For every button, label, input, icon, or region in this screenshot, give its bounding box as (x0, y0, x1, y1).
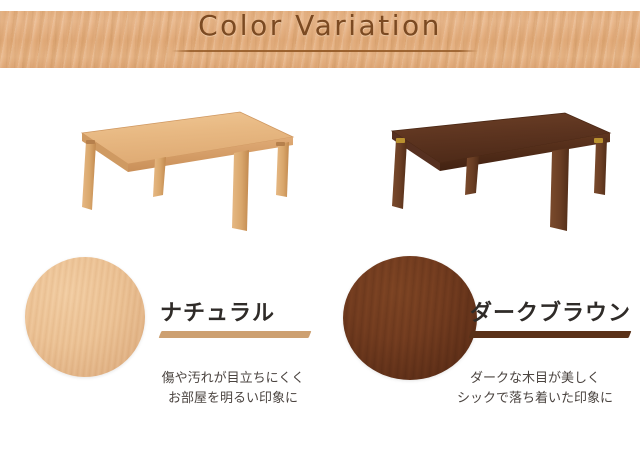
variant-name-natural: ナチュラル (160, 303, 310, 325)
title-underline-rule (172, 50, 478, 52)
variant-name-underline-natural (159, 331, 312, 338)
description-line-1: 傷や汚れが目立ちにくく (128, 369, 338, 389)
table-leg-front-left (392, 139, 407, 209)
dark-brown-wood-low-table-photo (330, 85, 630, 235)
table-leg-back-left (153, 157, 166, 197)
swatch-dark-brown[interactable] (343, 256, 477, 380)
table-leg-front-right (550, 148, 569, 231)
table-leg-front-right (232, 150, 249, 231)
natural-wood-low-table-photo (10, 85, 310, 235)
variant-name-dark-brown: ダークブラウン (470, 303, 631, 325)
variant-name-underline-dark-brown (469, 331, 632, 338)
page-title: Color Variation (0, 9, 640, 42)
variant-description-natural: 傷や汚れが目立ちにくく お部屋を明るい印象に (128, 369, 338, 409)
variant-label-dark-brown: ダークブラウン (470, 303, 631, 338)
leg-hinge-left (396, 138, 405, 143)
variant-label-natural: ナチュラル (160, 303, 310, 338)
swatch-natural[interactable] (25, 257, 145, 377)
description-line-2: シックで落ち着いた印象に (430, 389, 640, 409)
leg-hinge-left (86, 140, 95, 144)
table-leg-back-left (465, 156, 479, 195)
leg-hinge-right (594, 138, 603, 143)
leg-hinge-right (276, 142, 285, 146)
description-line-1: ダークな木目が美しく (430, 369, 640, 389)
table-leg-front-left (82, 141, 96, 210)
table-leg-back-right (276, 142, 289, 197)
color-variation-page: Color Variation (0, 0, 640, 460)
table-leg-back-right (594, 138, 607, 195)
variant-description-dark-brown: ダークな木目が美しく シックで落ち着いた印象に (430, 369, 640, 409)
description-line-2: お部屋を明るい印象に (128, 389, 338, 409)
